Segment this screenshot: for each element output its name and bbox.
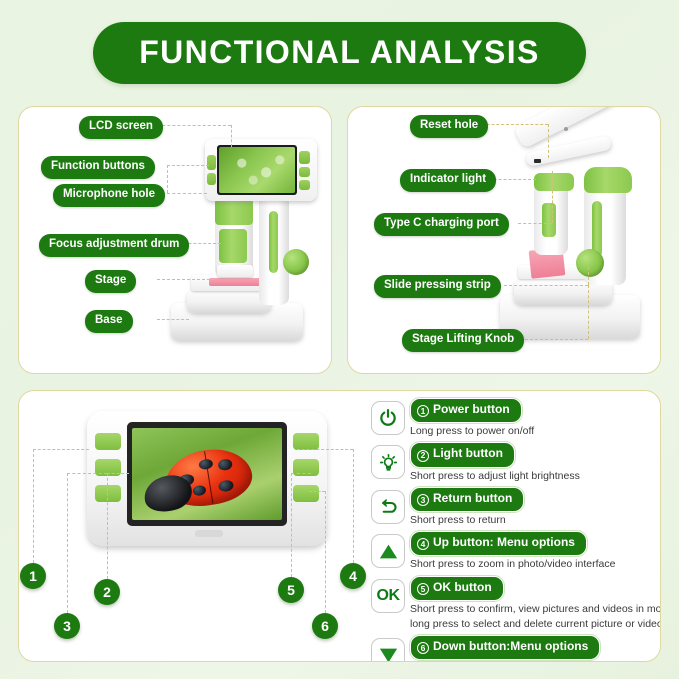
monitor-button-6[interactable] (293, 485, 319, 502)
legend-label: Power button (433, 402, 510, 416)
legend-number: 3 (417, 494, 429, 506)
monitor-bezel (127, 422, 287, 526)
callout-line-2-h (107, 473, 129, 474)
label-base[interactable]: Base (85, 310, 133, 333)
callout-badge-2[interactable]: 2 (94, 579, 120, 605)
callout-badge-1[interactable]: 1 (20, 563, 46, 589)
callout-line-2-v (107, 473, 108, 579)
monitor-bottom-notch (195, 530, 223, 537)
function-button-left-1 (207, 155, 216, 170)
ladybug-spot (217, 458, 232, 471)
callout-line-6-v (325, 491, 326, 613)
label-stage[interactable]: Stage (85, 270, 136, 293)
monitor-screen (132, 428, 282, 520)
legend-desc-line: Short press to return (410, 514, 661, 527)
callout-line-4-h (297, 449, 353, 450)
function-button-right-2 (299, 167, 310, 177)
lightbulb-icon (371, 445, 405, 479)
monitor-button-3[interactable] (95, 485, 121, 502)
legend-number: 5 (417, 583, 429, 595)
leader-funcbtn-h (167, 165, 209, 166)
legend-row-return[interactable]: 3Return button Short press to return (371, 486, 661, 527)
ok-icon: OK (371, 579, 405, 613)
callout-badge-6[interactable]: 6 (312, 613, 338, 639)
leader-reset-v (548, 124, 549, 158)
legend-row-up[interactable]: 4Up button: Menu options Short press to … (371, 530, 661, 571)
tube-green-cap (534, 173, 574, 191)
label-function-buttons[interactable]: Function buttons (41, 156, 155, 179)
legend-pill: 3Return button (410, 487, 524, 512)
legend-desc-line: Short press to zoom in photo/video inter… (410, 558, 661, 571)
legend-desc-line: Long press to power on/off (410, 425, 661, 438)
legend-row-light[interactable]: 2Light button Short press to adjust ligh… (371, 441, 661, 482)
column-green-strip (269, 211, 278, 273)
leaf-macro-image (219, 147, 295, 193)
legend-pill: 2Light button (410, 442, 515, 467)
button-legend-list: 1Power button Long press to power on/off… (371, 397, 661, 662)
ladybug-spot (192, 485, 206, 497)
label-microphone-hole[interactable]: Microphone hole (53, 184, 165, 207)
objective-part (217, 265, 253, 277)
leader-typec-v (552, 171, 553, 223)
label-reset-hole[interactable]: Reset hole (410, 115, 488, 138)
callout-line-5-h (291, 473, 311, 474)
leader-mic-h (167, 193, 207, 194)
legend-desc-line: long press to select and delete current … (410, 618, 661, 631)
legend-number: 4 (417, 538, 429, 550)
legend-pill: 5OK button (410, 576, 504, 601)
label-lcd-screen[interactable]: LCD screen (79, 116, 163, 139)
leader-lcd-v (231, 125, 232, 147)
ladybug-spot (198, 458, 213, 470)
callout-line-4-v (353, 449, 354, 563)
leader-knob-v (588, 285, 589, 339)
ladybug-spot (218, 479, 234, 492)
legend-pill: 1Power button (410, 398, 522, 423)
legend-desc-line: Short press to confirm, view pictures an… (410, 603, 661, 616)
label-stage-lifting-knob[interactable]: Stage Lifting Knob (402, 329, 524, 352)
legend-number: 1 (417, 405, 429, 417)
reset-hole-part (564, 127, 568, 131)
callout-badge-3[interactable]: 3 (54, 613, 80, 639)
callout-badge-5[interactable]: 5 (278, 577, 304, 603)
power-icon (371, 401, 405, 435)
triangle-up-icon (371, 534, 405, 568)
triangle-down-icon (371, 638, 405, 662)
title-banner: FUNCTIONAL ANALYSIS (0, 22, 679, 84)
panel-tilted-view: Reset hole Indicator light Type C chargi… (347, 106, 661, 374)
microscope-front-illustration: LCD screen Function buttons Microphone h… (19, 107, 331, 373)
ok-icon-label: OK (377, 587, 400, 605)
legend-text: 1Power button Long press to power on/off (410, 397, 661, 438)
leader-typec-h (518, 223, 552, 224)
top-green-cap (584, 167, 632, 193)
function-button-right-1 (299, 151, 310, 164)
leader-slide-v (588, 267, 589, 285)
legend-text: 5OK button Short press to confirm, view … (410, 575, 661, 632)
microscope-tilted-illustration: Reset hole Indicator light Type C chargi… (348, 107, 660, 373)
legend-label: OK button (433, 580, 492, 594)
leader-funcbtn-v (167, 165, 168, 193)
leader-slide-h (504, 285, 588, 286)
legend-text: 6Down button:Menu options Short press to… (410, 634, 661, 662)
legend-text: 2Light button Short press to adjust ligh… (410, 441, 661, 482)
label-slide-pressing-strip[interactable]: Slide pressing strip (374, 275, 501, 298)
leader-stage-h (157, 279, 215, 280)
leader-base-h (157, 319, 189, 320)
legend-label: Up button: Menu options (433, 535, 575, 549)
return-arrow-icon (371, 490, 405, 524)
callout-line-6-h (309, 491, 325, 492)
tube-green-strip (542, 203, 556, 237)
legend-row-power[interactable]: 1Power button Long press to power on/off (371, 397, 661, 438)
legend-pill: 6Down button:Menu options (410, 635, 600, 660)
legend-text: 3Return button Short press to return (410, 486, 661, 527)
legend-text: 4Up button: Menu options Short press to … (410, 530, 661, 571)
panel-button-guide: 1 2 3 4 5 6 1Power button Long press to … (18, 390, 661, 662)
legend-label: Return button (433, 491, 512, 505)
type-c-charging-port-part (534, 159, 541, 163)
legend-number: 6 (417, 642, 429, 654)
callout-line-3-v (67, 473, 68, 613)
callout-line-1-h (33, 449, 89, 450)
legend-label: Light button (433, 446, 503, 460)
slide-part (209, 278, 265, 286)
callout-line-3-h (67, 473, 107, 474)
legend-row-down[interactable]: 6Down button:Menu options Short press to… (371, 634, 661, 662)
lcd-screen-part (217, 145, 297, 195)
callout-line-1-v (33, 449, 34, 563)
function-button-right-3 (299, 180, 310, 190)
legend-row-ok[interactable]: OK 5OK button Short press to confirm, vi… (371, 575, 661, 632)
label-focus-adjustment-drum[interactable]: Focus adjustment drum (39, 234, 189, 257)
legend-number: 2 (417, 450, 429, 462)
callout-badge-4[interactable]: 4 (340, 563, 366, 589)
stage-lifting-knob-part (283, 249, 309, 275)
label-type-c-charging-port[interactable]: Type C charging port (374, 213, 509, 236)
stage-lifting-knob-part (576, 249, 604, 277)
callout-line-5-v (291, 473, 292, 577)
label-indicator-light[interactable]: Indicator light (400, 169, 496, 192)
legend-desc-line: Short press to adjust light brightness (410, 470, 661, 483)
monitor-button-4[interactable] (293, 433, 319, 450)
focus-adjustment-drum-part (219, 229, 247, 263)
legend-label: Down button:Menu options (433, 639, 588, 653)
monitor-button-1[interactable] (95, 433, 121, 450)
page-title: FUNCTIONAL ANALYSIS (93, 22, 586, 84)
panel-front-view: LCD screen Function buttons Microphone h… (18, 106, 332, 374)
legend-pill: 4Up button: Menu options (410, 531, 587, 556)
function-button-left-2 (207, 173, 216, 185)
